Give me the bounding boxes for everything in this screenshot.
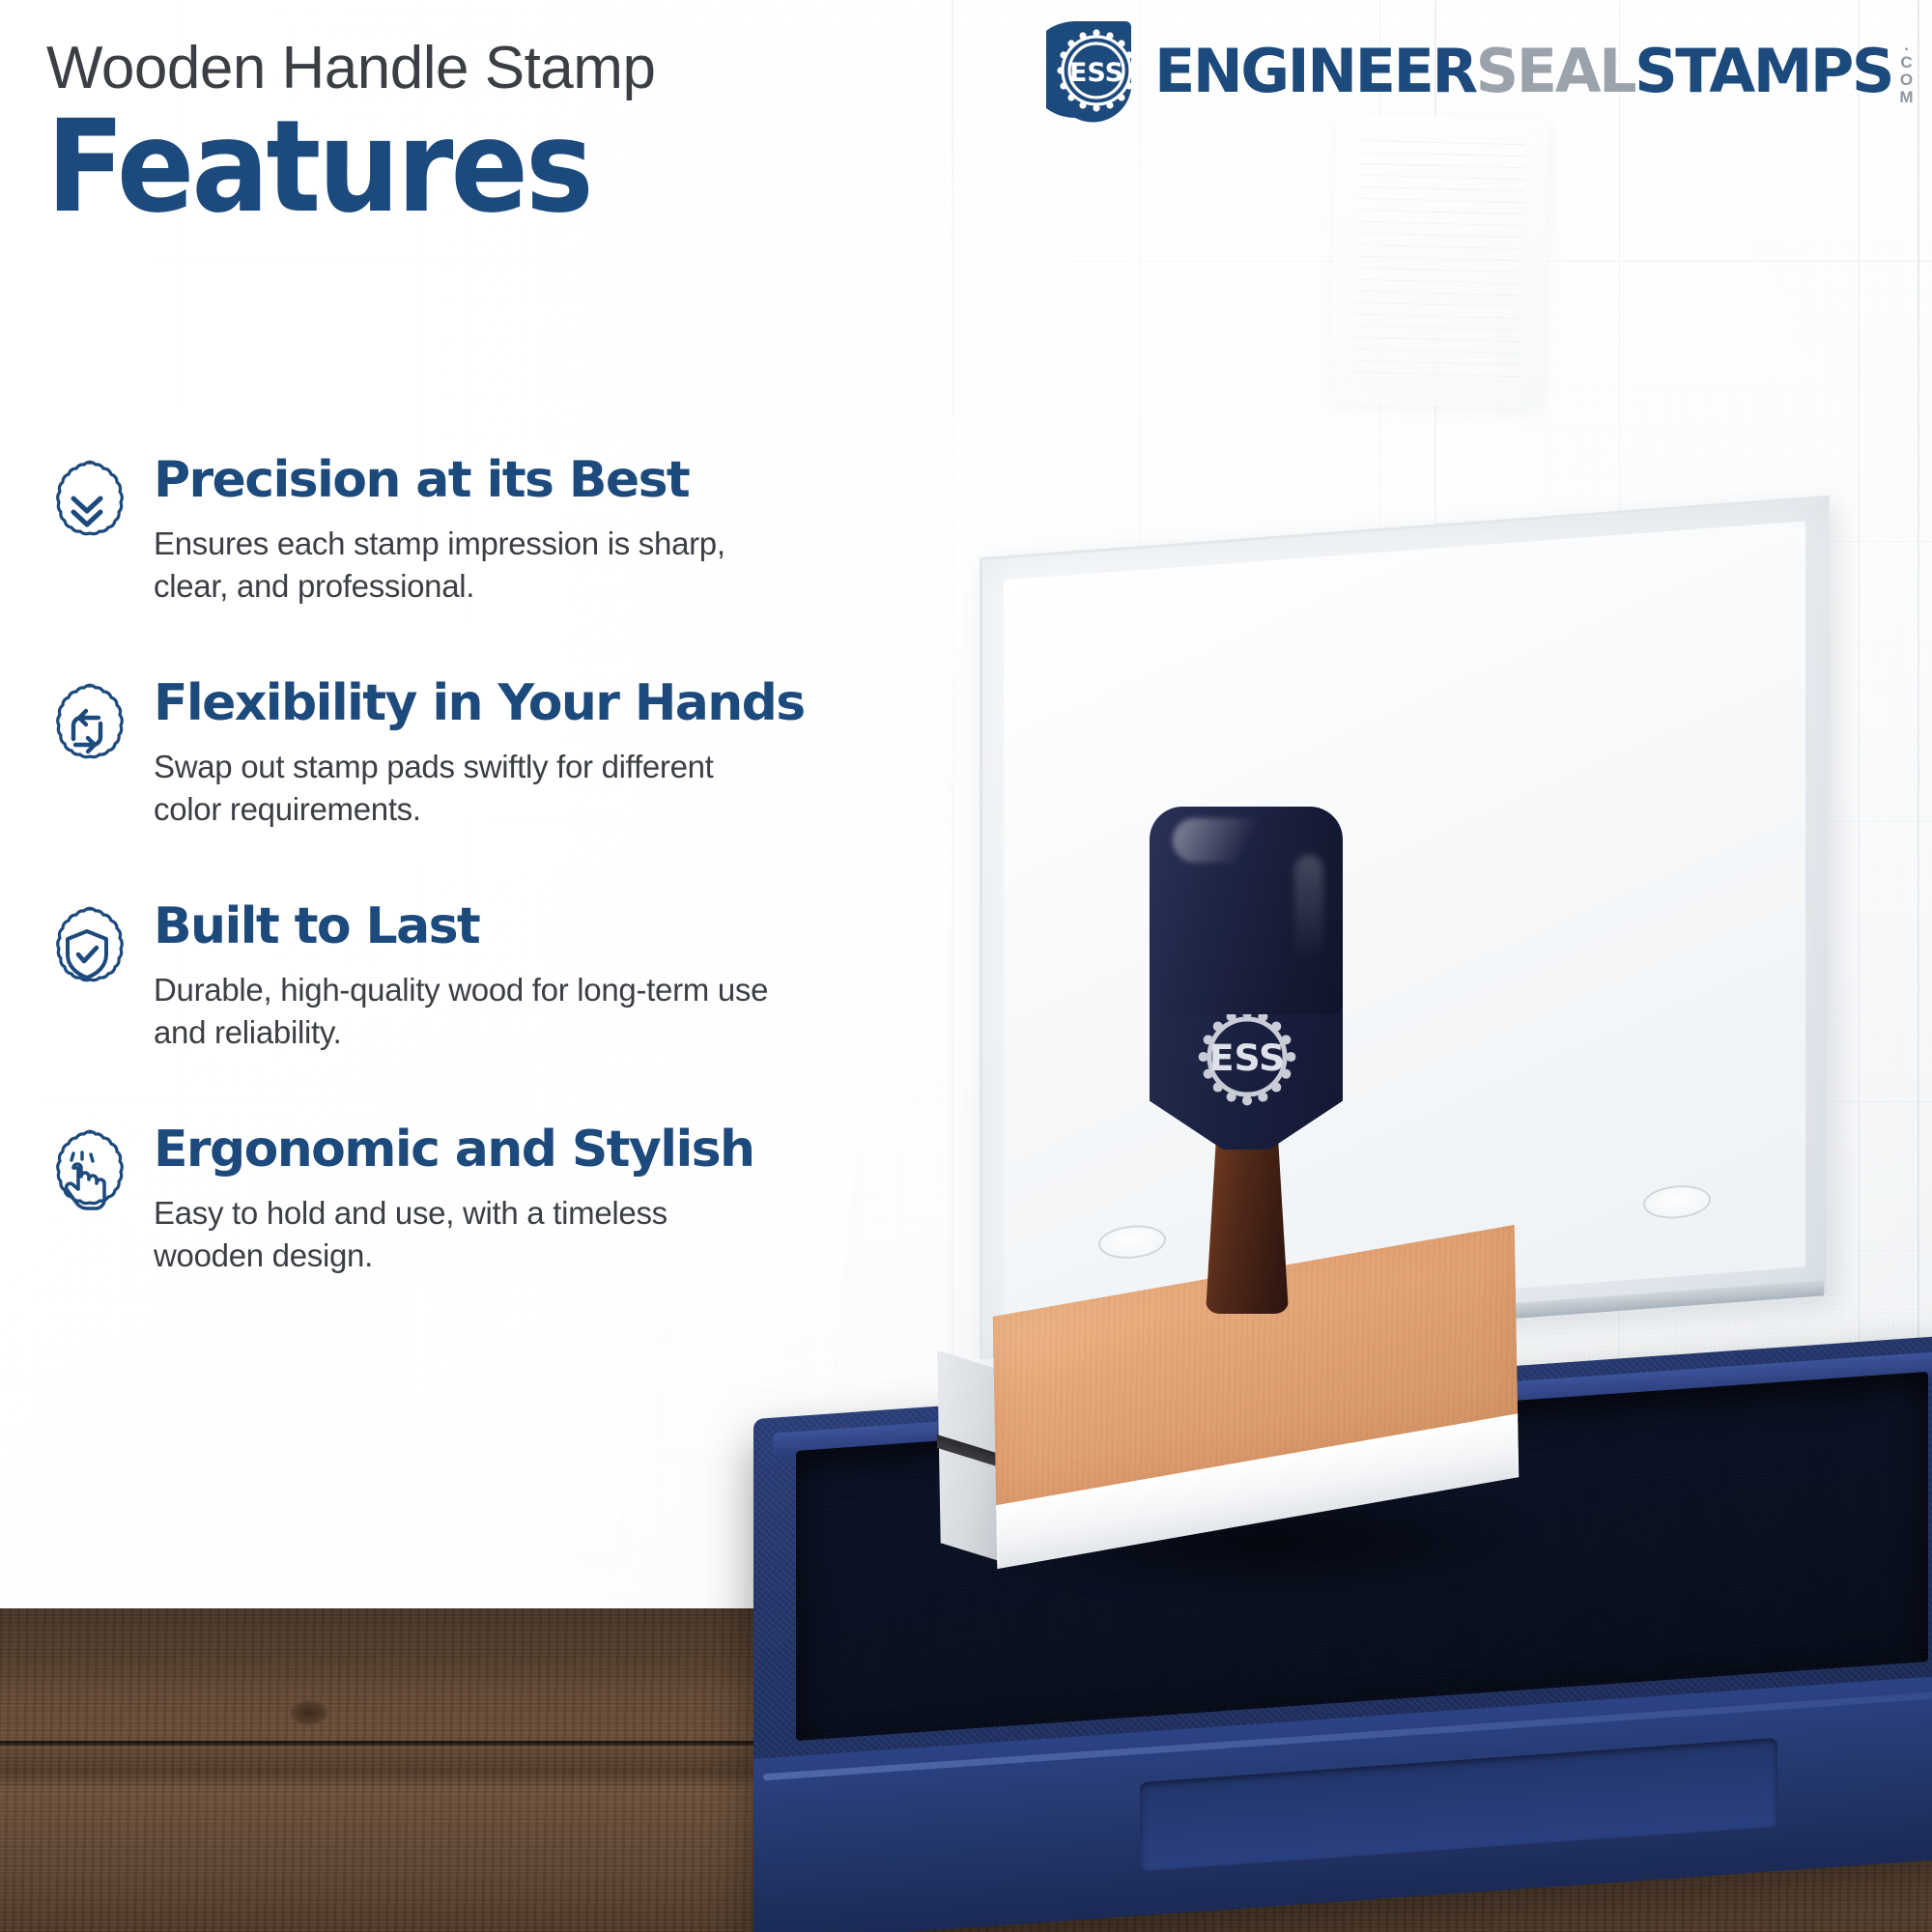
knob-highlight-side	[1294, 855, 1323, 961]
scalloped-badge-shield-check-icon	[39, 904, 135, 1001]
feature-title: Precision at its Best	[154, 454, 908, 507]
ess-gear-badge-icon: ESS	[1046, 17, 1152, 124]
wooden-handle-stamp: ESS	[956, 807, 1555, 1599]
header: Wooden Handle Stamp Features	[46, 37, 1012, 230]
brand-word-engineer: ENGINEER	[1154, 36, 1476, 106]
scalloped-badge-hand-tap-icon	[39, 1127, 135, 1224]
scalloped-badge-swap-arrows-icon	[39, 681, 135, 778]
feature-description: Ensures each stamp impression is sharp, …	[154, 523, 772, 608]
page-title: Features	[46, 105, 1012, 230]
feature-description: Swap out stamp pads swiftly for differen…	[154, 746, 772, 831]
scalloped-badge-double-chevron-down-icon	[39, 458, 135, 554]
feature-icon-wrap	[39, 904, 140, 1006]
feature-item: Precision at its Best Ensures each stamp…	[39, 454, 908, 608]
page-subtitle: Wooden Handle Stamp	[46, 37, 1012, 99]
brand-logo[interactable]: ESS ENGINEER SEAL STAMPS .COM	[1046, 17, 1915, 124]
feature-text: Built to Last Durable, high-quality wood…	[140, 900, 908, 1054]
feature-title: Flexibility in Your Hands	[154, 677, 908, 730]
feature-icon-wrap	[39, 1127, 140, 1229]
stamp-emblem-text: ESS	[1209, 1037, 1286, 1079]
ess-badge-text: ESS	[1069, 58, 1123, 88]
brand-word-seal: SEAL	[1476, 36, 1635, 106]
knob-highlight-top	[1173, 818, 1279, 863]
product-photo: ESS	[985, 526, 1932, 1932]
stamp-handle-knob	[1150, 807, 1343, 1014]
stamp-wooden-neck	[1206, 1121, 1289, 1314]
brand-word-stamps: STAMPS	[1634, 36, 1892, 106]
feature-list: Precision at its Best Ensures each stamp…	[39, 454, 908, 1277]
box-front-groove	[1140, 1738, 1777, 1871]
feature-text: Flexibility in Your Hands Swap out stamp…	[140, 677, 908, 831]
brand-wordmark: ENGINEER SEAL STAMPS	[1154, 36, 1892, 106]
feature-description: Durable, high-quality wood for long-term…	[154, 969, 772, 1054]
feature-description: Easy to hold and use, with a timeless wo…	[154, 1192, 772, 1277]
feature-title: Ergonomic and Stylish	[154, 1123, 908, 1177]
wood-knot	[290, 1700, 328, 1725]
feature-item: Ergonomic and Stylish Easy to hold and u…	[39, 1123, 908, 1277]
feature-item: Built to Last Durable, high-quality wood…	[39, 900, 908, 1054]
feature-icon-wrap	[39, 458, 140, 559]
brand-tld: .COM	[1898, 36, 1915, 105]
infographic-canvas: Wooden Handle Stamp Features ESS ENG	[0, 0, 1932, 1932]
feature-text: Precision at its Best Ensures each stamp…	[140, 454, 908, 608]
feature-text: Ergonomic and Stylish Easy to hold and u…	[140, 1123, 908, 1277]
feature-title: Built to Last	[154, 900, 908, 953]
feature-item: Flexibility in Your Hands Swap out stamp…	[39, 677, 908, 831]
feature-icon-wrap	[39, 681, 140, 782]
